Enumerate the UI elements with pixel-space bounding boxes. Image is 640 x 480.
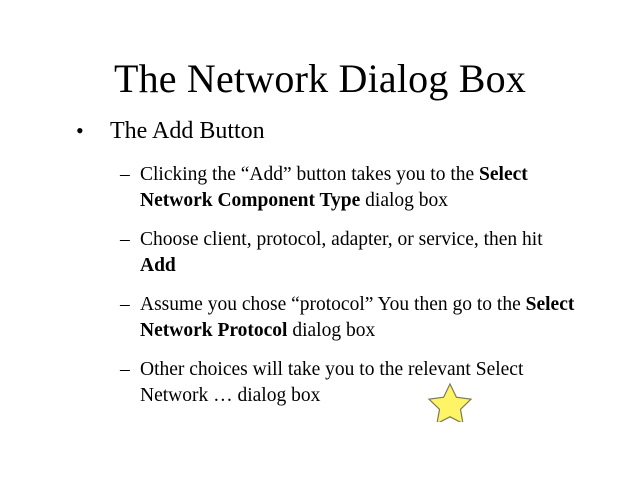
- bullet-level1-label: The Add Button: [110, 118, 265, 144]
- bullet-dash-icon: –: [120, 162, 130, 188]
- slide-body: • The Add Button – Clicking the “Add” bu…: [0, 116, 640, 422]
- list-item: – Clicking the “Add” button takes you to…: [0, 162, 640, 214]
- list-item-text: Clicking the “Add” button takes you to t…: [140, 164, 528, 211]
- slide-canvas: The Network Dialog Box • The Add Button …: [0, 0, 640, 480]
- bullet-dash-icon: –: [120, 292, 130, 318]
- bullet-level1: • The Add Button: [0, 116, 640, 146]
- sub-bullet-list: – Clicking the “Add” button takes you to…: [0, 162, 640, 409]
- star-icon: [427, 382, 473, 422]
- list-item: – Other choices will take you to the rel…: [0, 357, 640, 409]
- page-title: The Network Dialog Box: [0, 56, 640, 102]
- bullet-dash-icon: –: [120, 227, 130, 253]
- list-item-text: Choose client, protocol, adapter, or ser…: [140, 229, 543, 276]
- bullet-dot-icon: •: [76, 116, 84, 146]
- bullet-dash-icon: –: [120, 357, 130, 383]
- list-item: – Choose client, protocol, adapter, or s…: [0, 227, 640, 279]
- list-item-text: Assume you chose “protocol” You then go …: [140, 294, 574, 341]
- list-item: – Assume you chose “protocol” You then g…: [0, 292, 640, 344]
